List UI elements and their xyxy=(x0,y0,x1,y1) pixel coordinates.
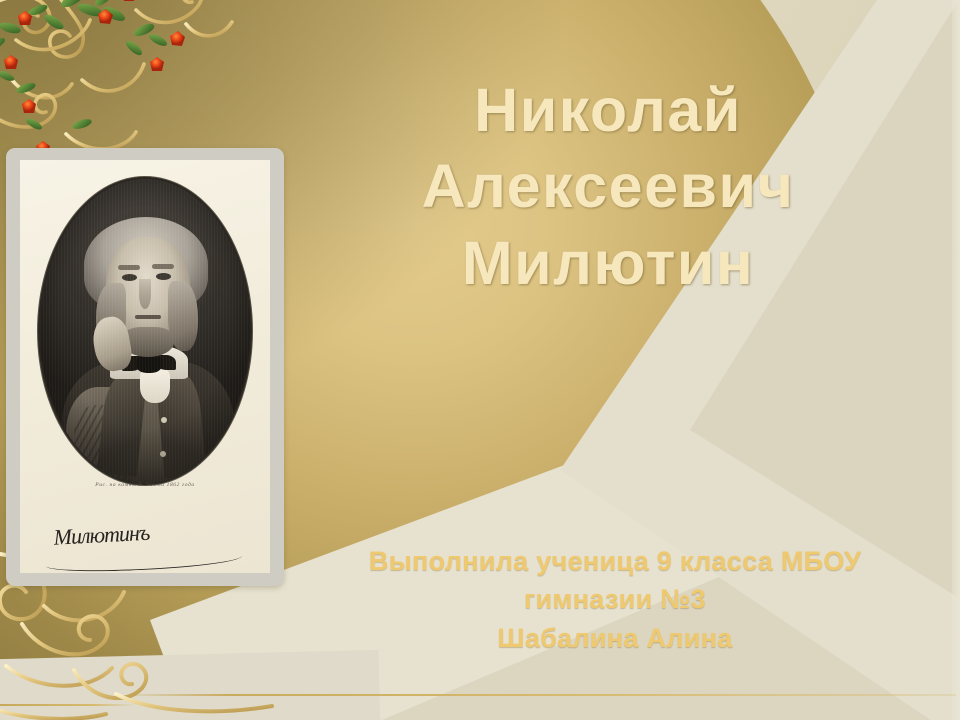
presentation-slide: Рис. на камнѣ В. Тимма 1862 года Милютин… xyxy=(0,0,960,720)
title-line-1: Николай xyxy=(288,72,928,148)
portrait-frame: Рис. на камнѣ В. Тимма 1862 года Милютин… xyxy=(6,148,284,586)
portrait-oval-vignette xyxy=(37,176,253,486)
floral-ornament-icon xyxy=(0,0,256,164)
title-line-3: Милютин xyxy=(288,225,928,301)
portrait-vignette-shading xyxy=(40,179,250,483)
subtitle-line-1: Выполнила ученица 9 класса МБОУ xyxy=(270,542,960,580)
portrait-engraving-image xyxy=(40,179,250,483)
title-line-2: Алексеевич xyxy=(288,148,928,224)
subtitle-line-3: Шабалина Алина xyxy=(270,619,960,657)
page-title: Николай Алексеевич Милютин xyxy=(288,72,928,301)
portrait-plate-caption: Рис. на камнѣ В. Тимма 1862 года xyxy=(20,482,270,488)
portrait-paper: Рис. на камнѣ В. Тимма 1862 года Милютин… xyxy=(20,160,270,573)
slide-subtitle: Выполнила ученица 9 класса МБОУ гимназии… xyxy=(270,542,960,657)
subtitle-line-2: гимназии №3 xyxy=(270,580,960,618)
